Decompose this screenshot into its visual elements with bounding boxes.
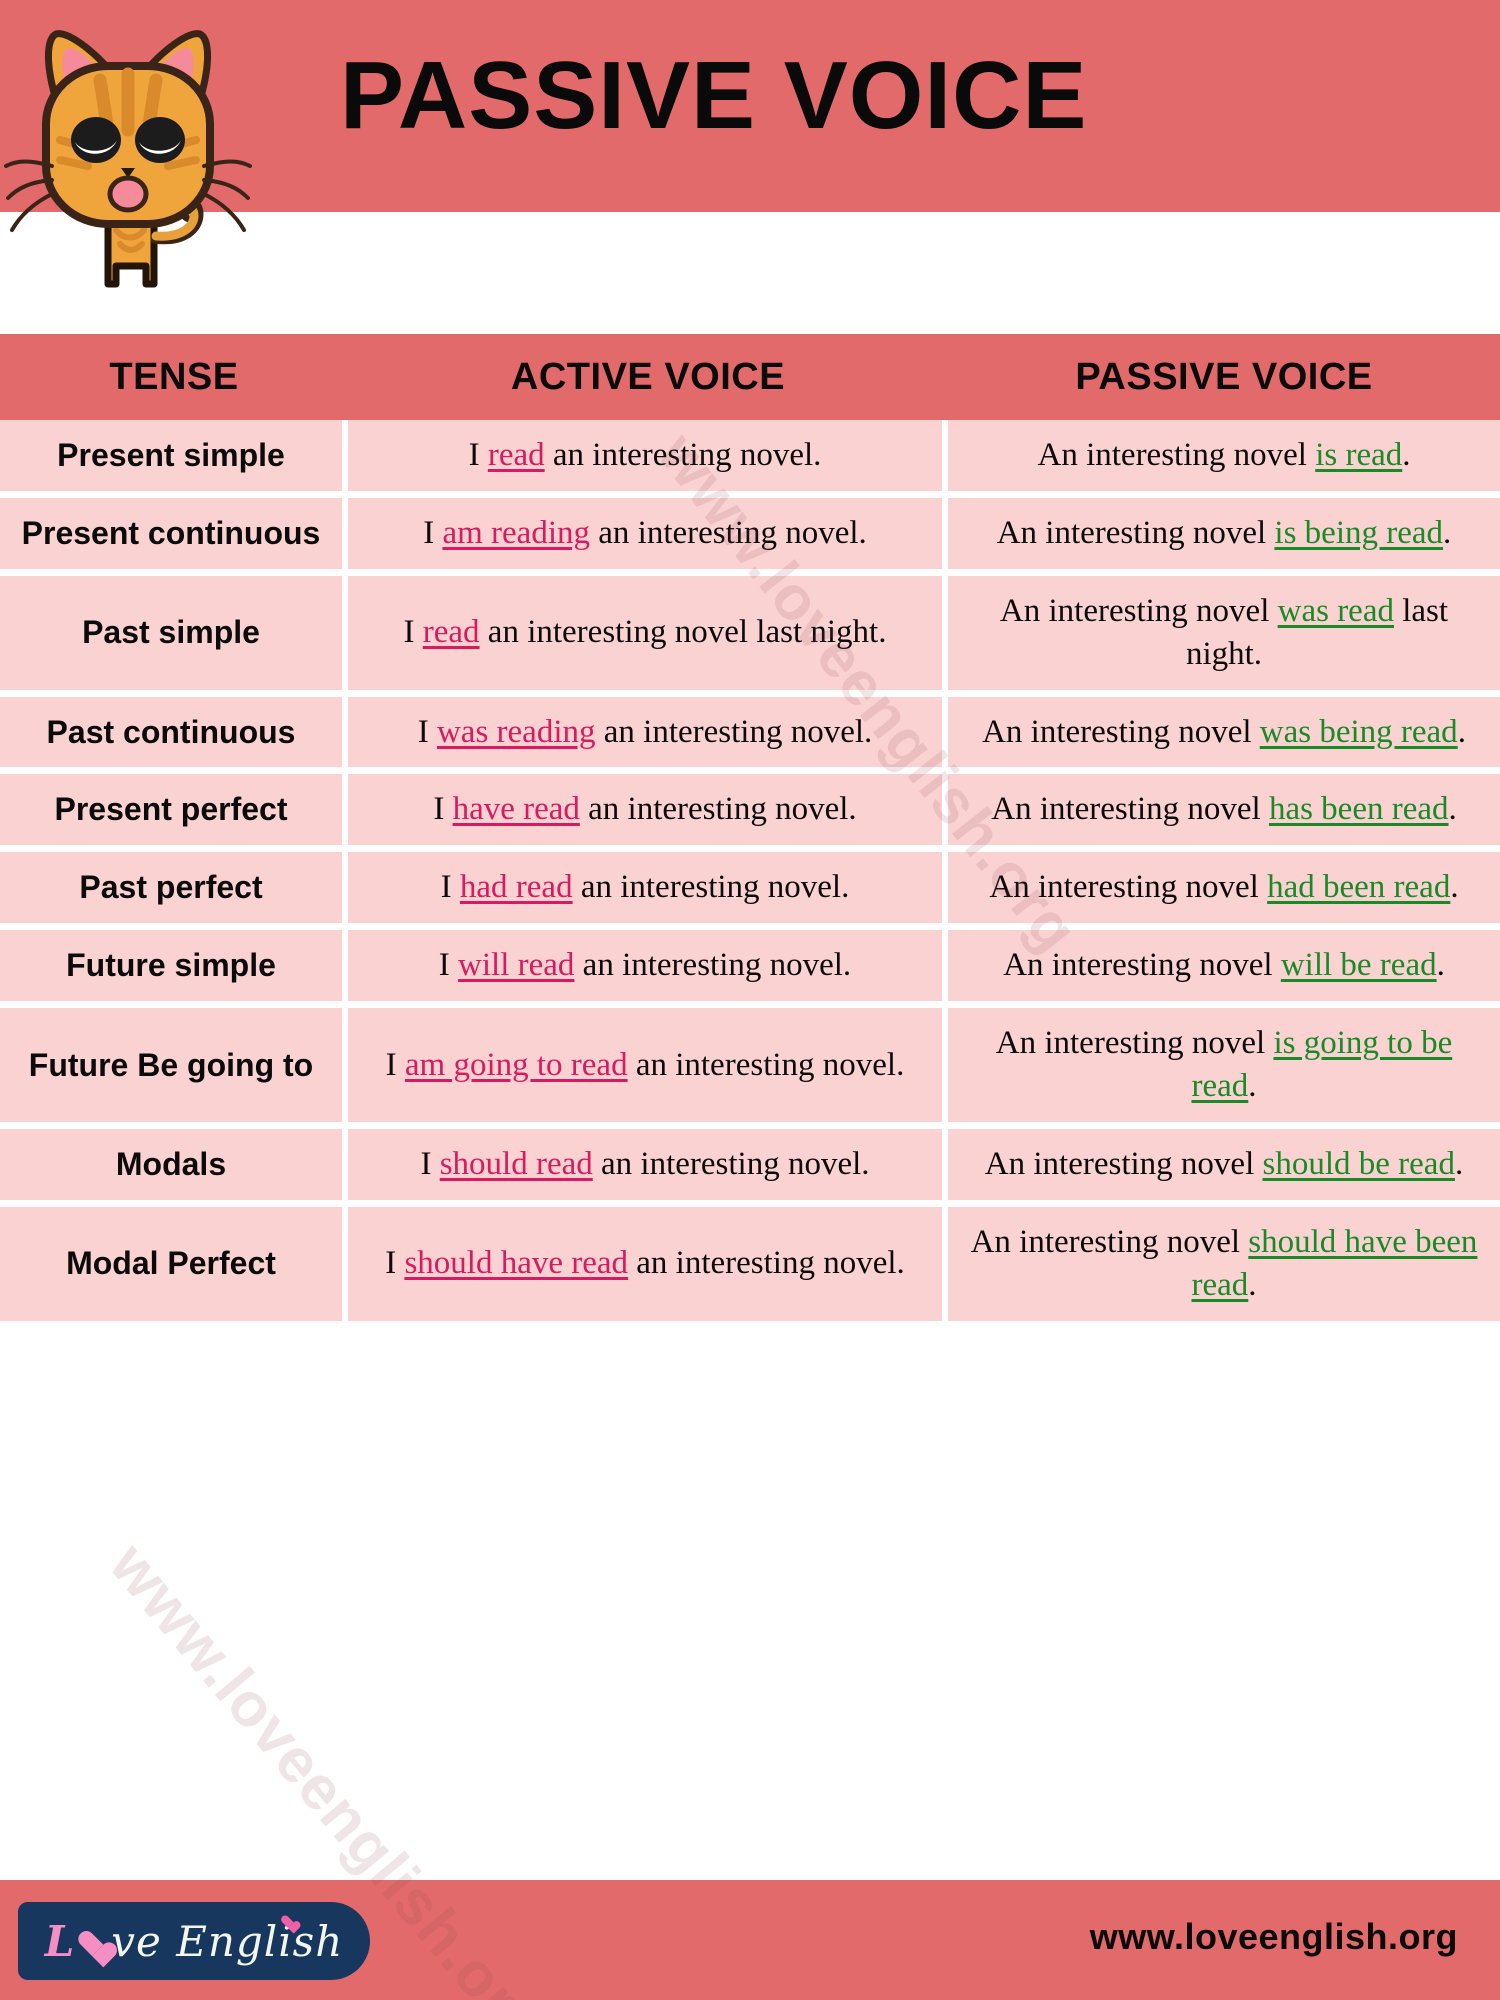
tense-label: Present perfect bbox=[16, 789, 326, 830]
active-sentence-prefix: I bbox=[418, 714, 437, 750]
active-sentence-highlight: should have read bbox=[404, 1245, 628, 1281]
cell-tense: Present simple bbox=[0, 420, 348, 498]
table-header-row: TENSE ACTIVE VOICE PASSIVE VOICE bbox=[0, 334, 1500, 420]
cell-tense: Present perfect bbox=[0, 774, 348, 852]
passive-sentence-suffix: . bbox=[1443, 515, 1451, 551]
tense-label: Past perfect bbox=[16, 867, 326, 908]
cat-mascot-icon bbox=[4, 8, 264, 308]
cell-tense: Past simple bbox=[0, 576, 348, 697]
passive-sentence-prefix: An interesting novel bbox=[1003, 947, 1281, 983]
cell-active-voice: I was reading an interesting novel. bbox=[348, 697, 948, 775]
active-sentence-highlight: read bbox=[488, 437, 545, 473]
active-sentence: I will read an interesting novel. bbox=[364, 944, 926, 987]
active-sentence-highlight: am going to read bbox=[405, 1047, 628, 1083]
active-sentence-highlight: should read bbox=[440, 1146, 593, 1182]
passive-sentence-highlight: is read bbox=[1315, 437, 1402, 473]
passive-sentence-suffix: . bbox=[1248, 1068, 1256, 1104]
passive-sentence-highlight: should be read bbox=[1263, 1146, 1455, 1182]
cell-active-voice: I should read an interesting novel. bbox=[348, 1129, 948, 1207]
active-sentence-prefix: I bbox=[433, 791, 452, 827]
table-row: Present continuousI am reading an intere… bbox=[0, 498, 1500, 576]
passive-sentence-suffix: . bbox=[1458, 714, 1466, 750]
active-sentence-prefix: I bbox=[423, 515, 442, 551]
passive-sentence-highlight: was read bbox=[1278, 593, 1394, 629]
passive-sentence-prefix: An interesting novel bbox=[982, 714, 1260, 750]
cell-active-voice: I am reading an interesting novel. bbox=[348, 498, 948, 576]
cell-passive-voice: An interesting novel is going to be read… bbox=[948, 1008, 1500, 1129]
passive-sentence-highlight: is being read bbox=[1274, 515, 1443, 551]
cell-tense: Future Be going to bbox=[0, 1008, 348, 1129]
active-sentence: I should read an interesting novel. bbox=[364, 1143, 926, 1186]
cell-active-voice: I will read an interesting novel. bbox=[348, 930, 948, 1008]
active-sentence-suffix: an interesting novel last night. bbox=[480, 614, 887, 650]
passive-sentence-highlight: has been read bbox=[1269, 791, 1449, 827]
table-row: Present perfectI have read an interestin… bbox=[0, 774, 1500, 852]
active-sentence-highlight: had read bbox=[460, 869, 573, 905]
cell-active-voice: I read an interesting novel. bbox=[348, 420, 948, 498]
passive-sentence-prefix: An interesting novel bbox=[996, 1025, 1274, 1061]
passive-sentence-highlight: was being read bbox=[1260, 714, 1458, 750]
passive-sentence: An interesting novel should have been re… bbox=[964, 1221, 1484, 1307]
active-sentence-highlight: was reading bbox=[437, 714, 596, 750]
active-sentence: I had read an interesting novel. bbox=[364, 866, 926, 909]
active-sentence-prefix: I bbox=[420, 1146, 439, 1182]
tense-label: Future Be going to bbox=[16, 1045, 326, 1086]
active-sentence: I have read an interesting novel. bbox=[364, 788, 926, 831]
active-sentence-suffix: an interesting novel. bbox=[593, 1146, 870, 1182]
column-header-active-voice: ACTIVE VOICE bbox=[348, 334, 948, 420]
active-sentence-highlight: will read bbox=[458, 947, 574, 983]
active-sentence-suffix: an interesting novel. bbox=[628, 1047, 905, 1083]
cell-tense: Past continuous bbox=[0, 697, 348, 775]
passive-voice-table: TENSE ACTIVE VOICE PASSIVE VOICE Present… bbox=[0, 334, 1500, 1328]
active-sentence-suffix: an interesting novel. bbox=[590, 515, 867, 551]
cell-passive-voice: An interesting novel should be read. bbox=[948, 1129, 1500, 1207]
footer-website-url[interactable]: www.loveenglish.org bbox=[1090, 1916, 1458, 1958]
cell-active-voice: I should have read an interesting novel. bbox=[348, 1207, 948, 1328]
passive-sentence: An interesting novel should be read. bbox=[964, 1143, 1484, 1186]
table-row: Past continuousI was reading an interest… bbox=[0, 697, 1500, 775]
active-sentence: I was reading an interesting novel. bbox=[364, 711, 926, 754]
table-body: Present simpleI read an interesting nove… bbox=[0, 420, 1500, 1328]
passive-sentence-suffix: . bbox=[1449, 791, 1457, 827]
active-sentence-suffix: an interesting novel. bbox=[628, 1245, 905, 1281]
passive-sentence-suffix: . bbox=[1437, 947, 1445, 983]
active-sentence: I read an interesting novel. bbox=[364, 434, 926, 477]
passive-sentence-highlight: will be read bbox=[1281, 947, 1437, 983]
passive-sentence-prefix: An interesting novel bbox=[991, 791, 1269, 827]
cell-passive-voice: An interesting novel has been read. bbox=[948, 774, 1500, 852]
tense-label: Present simple bbox=[16, 435, 326, 476]
passive-sentence-prefix: An interesting novel bbox=[971, 1224, 1249, 1260]
cell-tense: Modal Perfect bbox=[0, 1207, 348, 1328]
passive-sentence: An interesting novel is being read. bbox=[964, 512, 1484, 555]
passive-sentence-prefix: An interesting novel bbox=[1000, 593, 1278, 629]
passive-sentence-prefix: An interesting novel bbox=[985, 1146, 1263, 1182]
cell-passive-voice: An interesting novel should have been re… bbox=[948, 1207, 1500, 1328]
passive-sentence: An interesting novel has been read. bbox=[964, 788, 1484, 831]
active-sentence: I am going to read an interesting novel. bbox=[364, 1044, 926, 1087]
table-row: Past perfectI had read an interesting no… bbox=[0, 852, 1500, 930]
active-sentence: I am reading an interesting novel. bbox=[364, 512, 926, 555]
cell-passive-voice: An interesting novel is being read. bbox=[948, 498, 1500, 576]
tense-label: Past simple bbox=[16, 612, 326, 653]
passive-sentence-suffix: . bbox=[1455, 1146, 1463, 1182]
passive-sentence-suffix: . bbox=[1402, 437, 1410, 473]
passive-sentence: An interesting novel is read. bbox=[964, 434, 1484, 477]
tense-label: Modals bbox=[16, 1144, 326, 1185]
passive-sentence-suffix: . bbox=[1450, 869, 1458, 905]
active-sentence: I should have read an interesting novel. bbox=[364, 1242, 926, 1285]
passive-sentence: An interesting novel will be read. bbox=[964, 944, 1484, 987]
cell-tense: Modals bbox=[0, 1129, 348, 1207]
passive-sentence: An interesting novel is going to be read… bbox=[964, 1022, 1484, 1108]
active-sentence-suffix: an interesting novel. bbox=[580, 791, 857, 827]
table-row: Future simpleI will read an interesting … bbox=[0, 930, 1500, 1008]
cell-passive-voice: An interesting novel was read last night… bbox=[948, 576, 1500, 697]
passive-sentence-suffix: . bbox=[1248, 1267, 1256, 1303]
active-sentence-highlight: am reading bbox=[442, 515, 590, 551]
cell-passive-voice: An interesting novel was being read. bbox=[948, 697, 1500, 775]
cell-passive-voice: An interesting novel had been read. bbox=[948, 852, 1500, 930]
logo-letter-l: L bbox=[45, 1917, 76, 1966]
active-sentence-suffix: an interesting novel. bbox=[596, 714, 873, 750]
love-english-logo[interactable]: L ve English bbox=[18, 1902, 370, 1980]
footer-bar: L ve English www.loveenglish.org bbox=[0, 1880, 1500, 2000]
page-title: PASSIVE VOICE bbox=[340, 48, 1340, 144]
table-row: Future Be going toI am going to read an … bbox=[0, 1008, 1500, 1129]
tense-label: Modal Perfect bbox=[16, 1243, 326, 1284]
cell-active-voice: I am going to read an interesting novel. bbox=[348, 1008, 948, 1129]
heart-icon bbox=[78, 1929, 108, 1959]
passive-sentence-prefix: An interesting novel bbox=[989, 869, 1267, 905]
active-sentence: I read an interesting novel last night. bbox=[364, 611, 926, 654]
cell-passive-voice: An interesting novel is read. bbox=[948, 420, 1500, 498]
active-sentence-suffix: an interesting novel. bbox=[545, 437, 822, 473]
active-sentence-prefix: I bbox=[385, 1245, 404, 1281]
active-sentence-prefix: I bbox=[404, 614, 423, 650]
passive-sentence-prefix: An interesting novel bbox=[1038, 437, 1316, 473]
tense-label: Future simple bbox=[16, 945, 326, 986]
tense-label: Present continuous bbox=[16, 513, 326, 554]
column-header-passive-voice: PASSIVE VOICE bbox=[948, 334, 1500, 420]
infographic-page: PASSIVE VOICE bbox=[0, 0, 1500, 2000]
passive-sentence: An interesting novel was being read. bbox=[964, 711, 1484, 754]
active-sentence-prefix: I bbox=[386, 1047, 405, 1083]
active-sentence-highlight: have read bbox=[453, 791, 580, 827]
passive-sentence-prefix: An interesting novel bbox=[997, 515, 1275, 551]
passive-sentence: An interesting novel had been read. bbox=[964, 866, 1484, 909]
passive-sentence-highlight: had been read bbox=[1267, 869, 1450, 905]
column-header-tense: TENSE bbox=[0, 334, 348, 420]
active-sentence-prefix: I bbox=[439, 947, 458, 983]
active-sentence-prefix: I bbox=[441, 869, 460, 905]
logo-rest-text: ve English bbox=[111, 1917, 343, 1966]
cell-tense: Future simple bbox=[0, 930, 348, 1008]
cell-tense: Past perfect bbox=[0, 852, 348, 930]
passive-sentence: An interesting novel was read last night… bbox=[964, 590, 1484, 676]
tense-label: Past continuous bbox=[16, 712, 326, 753]
cell-active-voice: I have read an interesting novel. bbox=[348, 774, 948, 852]
active-sentence-highlight: read bbox=[423, 614, 480, 650]
cell-tense: Present continuous bbox=[0, 498, 348, 576]
cell-passive-voice: An interesting novel will be read. bbox=[948, 930, 1500, 1008]
cell-active-voice: I had read an interesting novel. bbox=[348, 852, 948, 930]
table-row: ModalsI should read an interesting novel… bbox=[0, 1129, 1500, 1207]
active-sentence-prefix: I bbox=[469, 437, 488, 473]
active-sentence-suffix: an interesting novel. bbox=[573, 869, 850, 905]
active-sentence-suffix: an interesting novel. bbox=[574, 947, 851, 983]
table-row: Modal PerfectI should have read an inter… bbox=[0, 1207, 1500, 1328]
small-heart-icon bbox=[281, 1916, 296, 1931]
table-row: Present simpleI read an interesting nove… bbox=[0, 420, 1500, 498]
table-row: Past simpleI read an interesting novel l… bbox=[0, 576, 1500, 697]
cell-active-voice: I read an interesting novel last night. bbox=[348, 576, 948, 697]
